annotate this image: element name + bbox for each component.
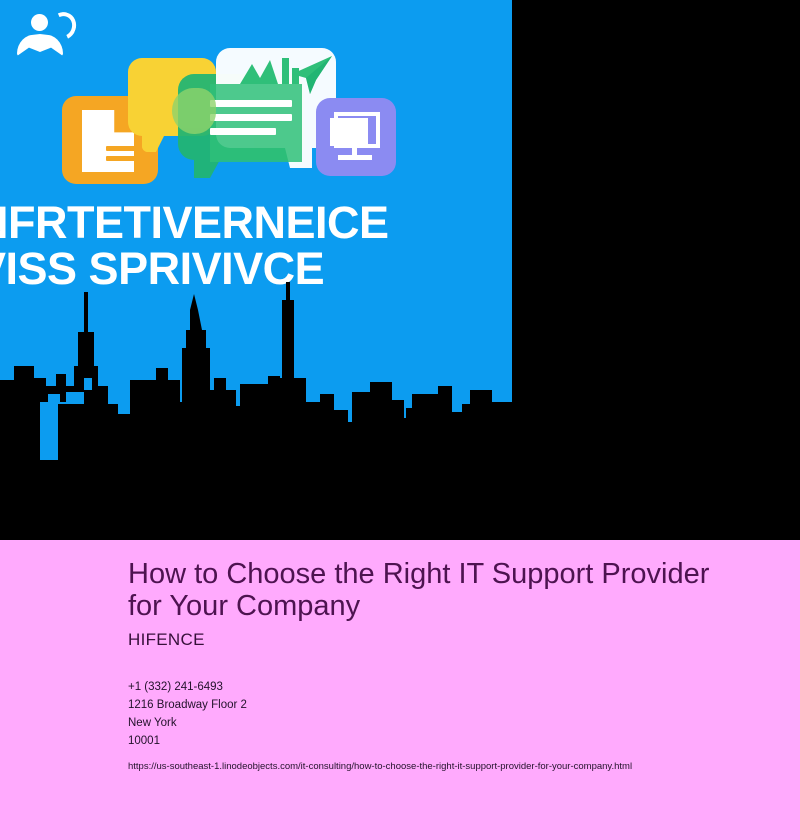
- contact-block: +1 (332) 241-6493 1216 Broadway Floor 2 …: [128, 678, 728, 750]
- contact-phone: +1 (332) 241-6493: [128, 678, 728, 696]
- source-url[interactable]: https://us-southeast-1.linodeobjects.com…: [128, 760, 788, 774]
- document-text-line: [106, 156, 136, 161]
- hero-image: NFRTETIVERNEICE VISS SPRIVIVCE: [0, 0, 512, 512]
- person-head-shape: [31, 14, 48, 31]
- monitor-screen-shape: [330, 118, 368, 146]
- monitor-base-shape: [338, 155, 372, 160]
- contact-zip: 10001: [128, 732, 728, 750]
- document-text-line: [106, 146, 136, 151]
- brand-name: HIFENCE: [128, 630, 205, 650]
- hero-headline: NFRTETIVERNEICE VISS SPRIVIVCE: [0, 200, 512, 292]
- chat-list-panel-shape: [210, 84, 302, 162]
- contact-city: New York: [128, 714, 728, 732]
- icon-cluster: [0, 0, 512, 200]
- chat-list-line: [210, 128, 276, 135]
- info-panel: How to Choose the Right IT Support Provi…: [0, 540, 800, 840]
- document-page-shape: [82, 110, 134, 172]
- contact-street: 1216 Broadway Floor 2: [128, 696, 728, 714]
- hero-band: NFRTETIVERNEICE VISS SPRIVIVCE: [0, 0, 800, 540]
- chat-list-line: [210, 100, 292, 107]
- speech-tail-shape: [142, 132, 166, 152]
- hero-headline-line-1: NFRTETIVERNEICE: [0, 197, 389, 248]
- page-root: NFRTETIVERNEICE VISS SPRIVIVCE: [0, 0, 800, 840]
- chat-list-line: [210, 114, 292, 121]
- city-skyline-silhouette: [0, 282, 512, 512]
- page-title: How to Choose the Right IT Support Provi…: [128, 558, 728, 622]
- green-blob-shape: [172, 88, 216, 134]
